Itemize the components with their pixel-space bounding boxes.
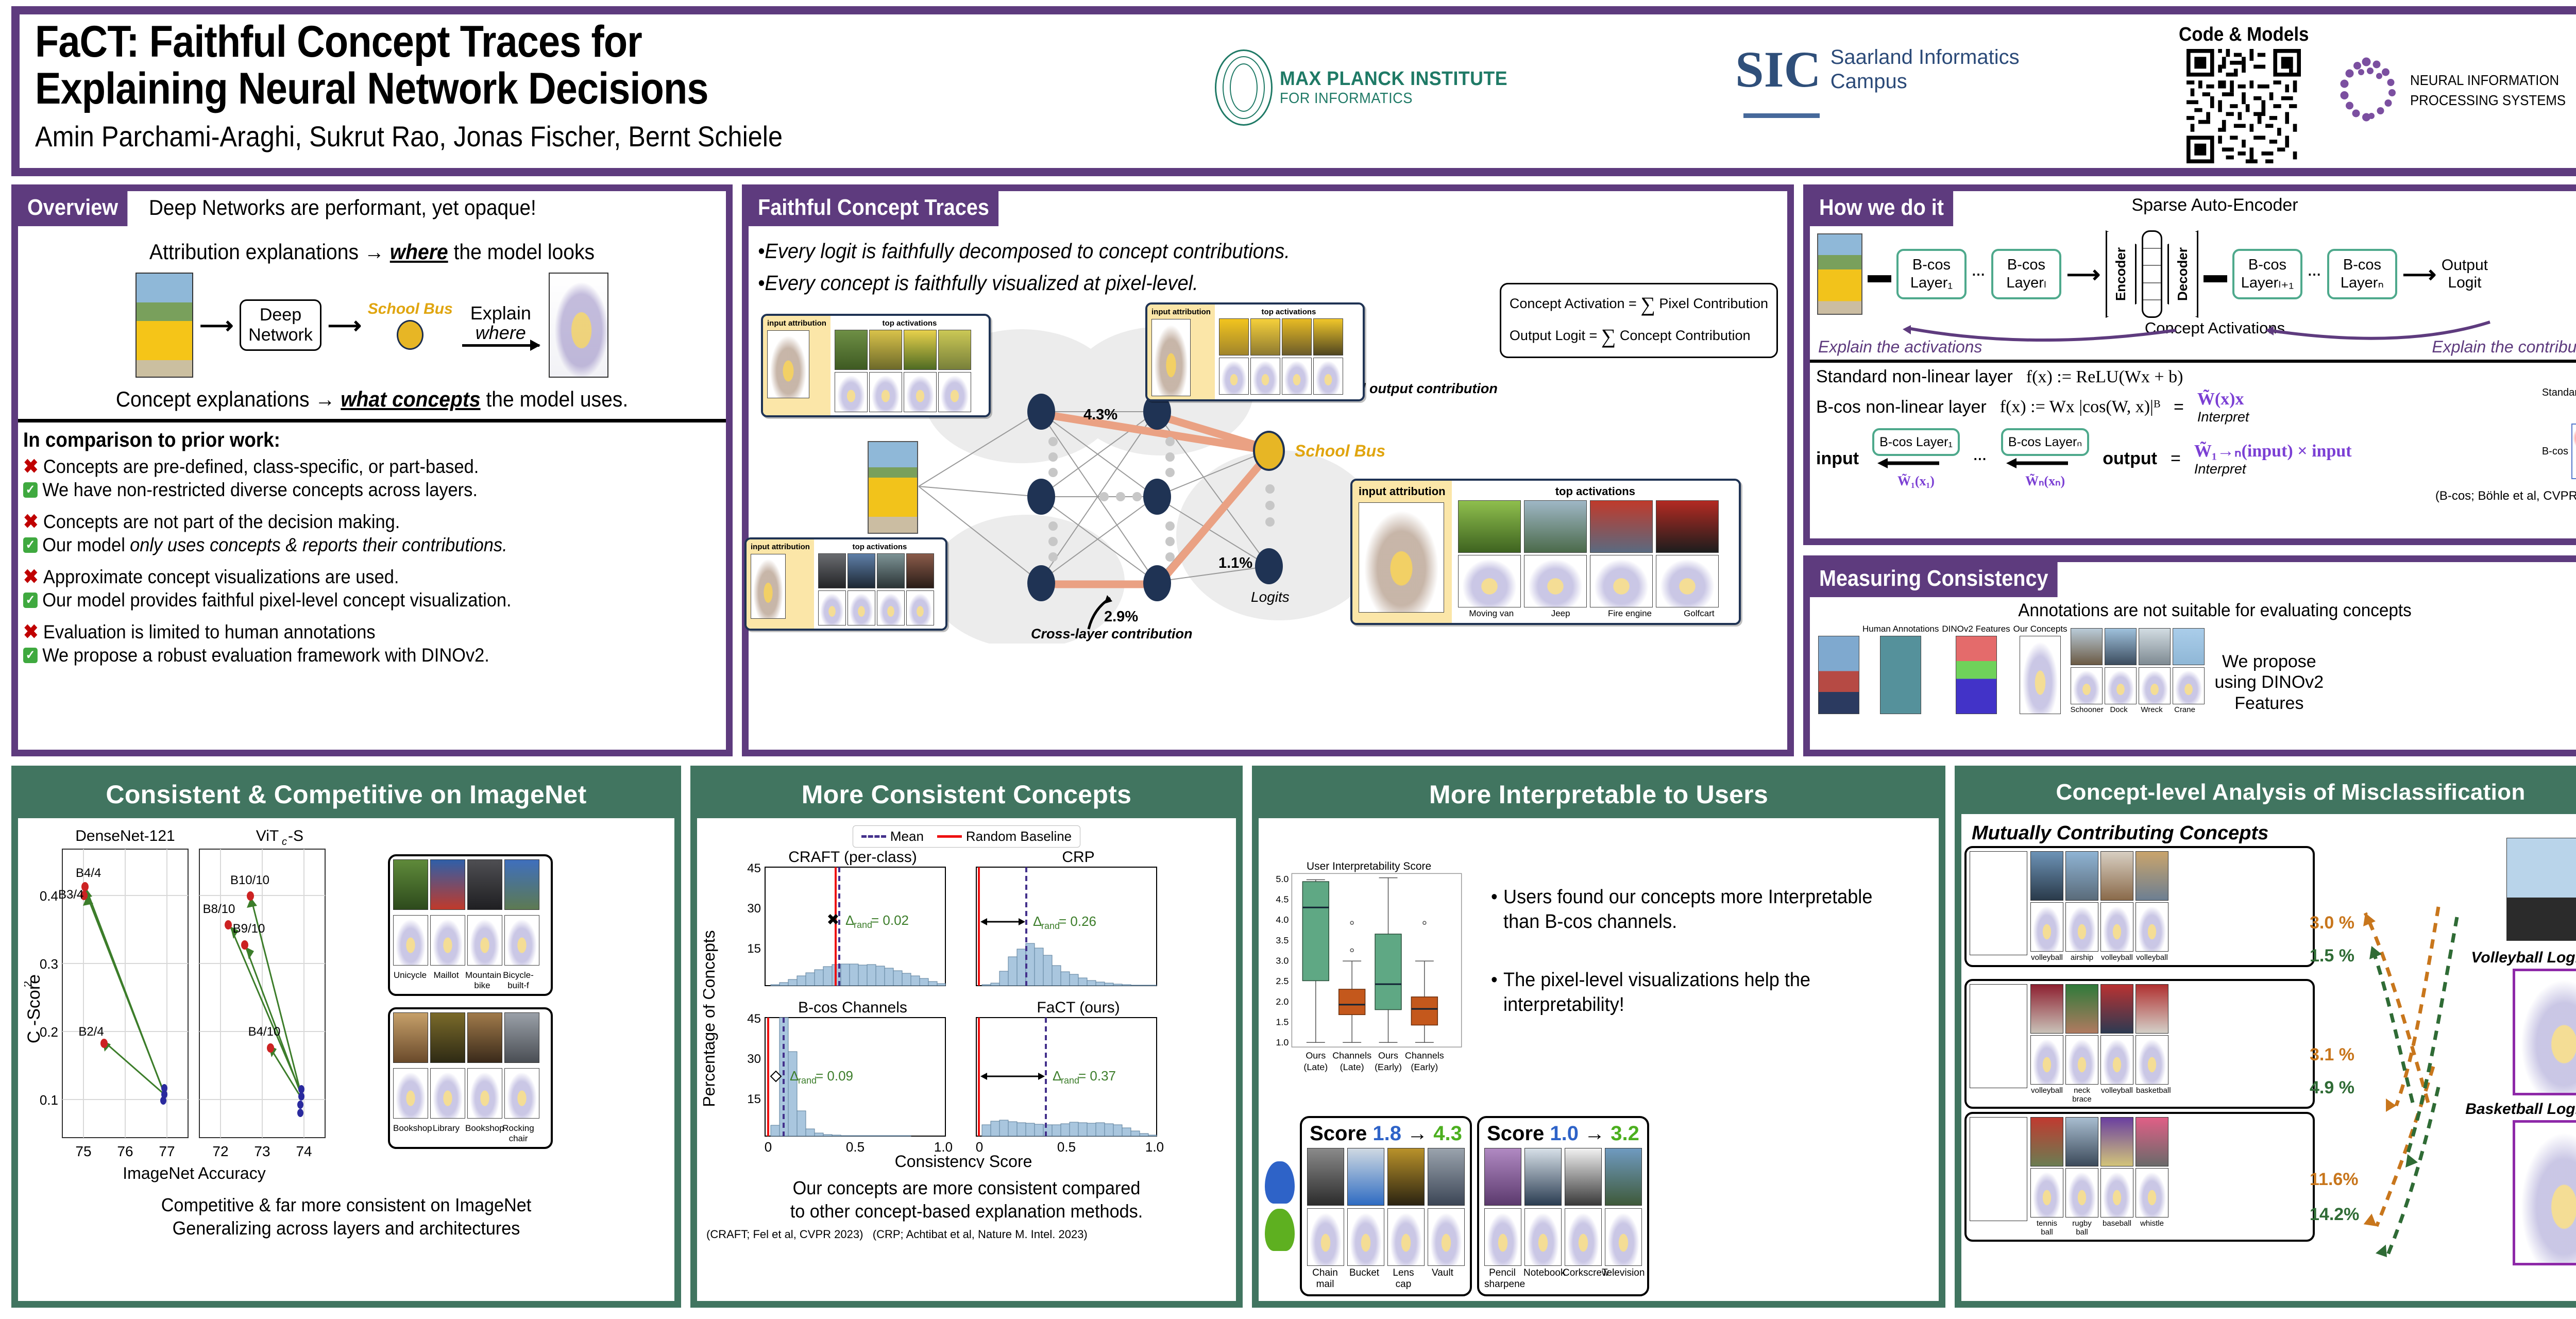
concept-attr-thumb — [1428, 1208, 1465, 1266]
svg-text:Percentage of Concepts: Percentage of Concepts — [703, 930, 718, 1107]
thumb-label: Mountain bike — [465, 970, 499, 991]
overview-tab: Overview — [18, 191, 127, 226]
concept-attr-thumb — [835, 372, 868, 412]
eq-standard-formula: f(x) := ReLU(Wx + b) — [2026, 367, 2183, 387]
score-card-2-label: Pencil sharpene — [1484, 1267, 1520, 1290]
comparison-item: ✖Evaluation is limited to human annotati… — [23, 620, 677, 644]
score-to: 4.3 — [1433, 1122, 1462, 1145]
consistent-caption: Our concepts are more consistent compare… — [717, 1176, 1217, 1223]
how-pipeline: ▬ B-cosLayer₁ ⋯ B-cosLayerₗ ⟶ Encoder De… — [1817, 230, 2576, 318]
mpi-seal-icon — [1215, 49, 1273, 126]
mc-concept-grid: Schooner Dock Wreck Crane — [2071, 628, 2205, 714]
fct-bullet-1: •Every logit is faithfully decomposed to… — [758, 235, 1715, 267]
chain-rhs: W̃₁→ₙ(input) × input — [2194, 442, 2352, 461]
score-card-1: Score 1.8 → 4.3 — [1300, 1116, 1472, 1296]
svg-text:45: 45 — [747, 861, 761, 875]
concept-label: Dock — [2104, 705, 2134, 714]
concept-attr-thumb — [904, 372, 937, 412]
svg-text:1.0: 1.0 — [1145, 1139, 1164, 1155]
eq-chain-row: input B-cos Layer₁ W̃₁(x₁) ⋯ B-cos Layer… — [1816, 428, 2576, 489]
concept-activations-row: Concept Activations — [1810, 319, 2576, 337]
concept-attr-thumb — [1605, 1208, 1642, 1266]
basketball-explanation-image — [2513, 1120, 2576, 1265]
concept-em: what concepts — [341, 387, 480, 411]
svg-text:Δ: Δ — [845, 912, 854, 928]
concept-attr-thumb — [848, 590, 875, 625]
logit-node — [397, 320, 423, 350]
concept-label: Crane — [2170, 705, 2200, 714]
concept-attr-thumb — [1282, 358, 1312, 395]
activation-label: Moving van — [1461, 608, 1522, 619]
svg-text:ImageNet Accuracy: ImageNet Accuracy — [123, 1164, 265, 1182]
interpret-label: Interpret — [2197, 409, 2249, 425]
top-activation-row — [1458, 500, 1733, 553]
concept-attr-thumb — [467, 1068, 502, 1119]
latent-concepts — [2142, 230, 2162, 318]
score-card-1-label: Vault — [1425, 1267, 1461, 1290]
card-title-input-attribution: input attribution — [1359, 485, 1446, 498]
imagenet-body: DenseNet-121 ViT c -S C -Score 2 0.4 0.3… — [18, 818, 674, 1189]
comparison-heading: In comparison to prior work: — [23, 429, 670, 452]
concept-attr-thumb — [1250, 358, 1280, 395]
card-left: input attribution — [1147, 305, 1215, 399]
activation-thumb — [2065, 984, 2098, 1034]
card-title-top-activations: top activations — [1458, 485, 1733, 498]
svg-text:1.0: 1.0 — [1276, 1037, 1289, 1047]
bcos-layer-n: B-cosLayerₙ — [2327, 249, 2397, 299]
concept-attr-thumb — [504, 915, 539, 966]
mc-label-dinov2: DINOv2 Features — [1942, 624, 2010, 634]
user-interpretability-boxplot: User Interpretability Score 5.04.54.0 3.… — [1265, 823, 1481, 1112]
score-from: 1.0 — [1550, 1122, 1579, 1145]
concept-attr-thumb — [2136, 902, 2168, 952]
legend-mean-label: Mean — [890, 828, 924, 844]
eq-bcos-row: B-cos non-linear layer f(x) := Wx |cos(W… — [1816, 389, 2576, 425]
random-baseline-line-icon — [937, 835, 962, 838]
activation-label-row: Moving van Jeep Fire engine Golfcart — [1458, 608, 1733, 619]
arrow-right-icon: ▬ — [1868, 262, 1891, 286]
neurips-line1: NEURAL INFORMATION — [2410, 70, 2566, 90]
activation-thumb — [1605, 1148, 1642, 1206]
concept-post: the model uses. — [481, 387, 629, 411]
concept-label: whistle — [2136, 1219, 2168, 1237]
divider — [18, 419, 726, 422]
arrow-right-icon: ⟶ — [2402, 262, 2436, 286]
consistent-banner: More Consistent Concepts — [697, 772, 1236, 818]
deep-network-l2: Network — [248, 325, 313, 345]
measuring-right-text: We proposeusing DINOv2Features — [2215, 651, 2324, 714]
pct-1-5: 1.5 % — [2310, 946, 2354, 966]
activation-thumb — [1458, 500, 1521, 553]
activation-thumb — [393, 1012, 428, 1063]
activation-thumb — [2030, 984, 2063, 1034]
svg-text:5.0: 5.0 — [1276, 874, 1289, 884]
mpi-logo-line2: FOR INFORMATICS — [1280, 90, 1507, 107]
activation-label: Golfcart — [1668, 608, 1730, 619]
concept-grid-2: volleyball neck brace volleyball basketb… — [2030, 984, 2168, 1104]
activation-thumb — [1428, 1148, 1465, 1206]
svg-text:rand: rand — [854, 920, 872, 930]
concept-attr-thumb — [430, 915, 465, 966]
eq-bcos-formula: f(x) := Wx |cos(W, x)|ᴮ — [2000, 397, 2160, 417]
svg-text:DenseNet-121: DenseNet-121 — [75, 827, 175, 844]
activation-thumb — [2065, 1117, 2098, 1166]
svg-text:B4/4: B4/4 — [76, 866, 101, 880]
svg-text:ViT: ViT — [256, 827, 279, 844]
ellipsis-icon: ⋯ — [1973, 451, 1988, 467]
svg-text:77: 77 — [159, 1143, 175, 1159]
svg-text:4.0: 4.0 — [1276, 915, 1289, 925]
svg-text:B2/4: B2/4 — [78, 1025, 104, 1039]
activation-thumb — [1387, 1148, 1425, 1206]
concept-attr-thumb — [393, 1068, 428, 1119]
concept-attr-thumb — [467, 915, 502, 966]
activation-thumb — [2030, 851, 2063, 901]
top-activation-row — [818, 553, 941, 588]
activation-thumb — [1656, 500, 1719, 553]
bike-concept-card: Unicycle Maillot Mountain bike Bicycle-b… — [388, 854, 553, 996]
diagram-class-label: School Bus — [1295, 442, 1385, 461]
panel-faithful-concept-traces: Faithful Concept Traces •Every logit is … — [742, 184, 1794, 756]
pct-4-9: 4.9 % — [2310, 1078, 2354, 1098]
bcos-layer-1: B-cosLayer₁ — [1896, 249, 1967, 299]
concept-attr-thumb — [1458, 555, 1521, 607]
qr-code-icon[interactable] — [2187, 49, 2301, 163]
pct-3-0: 3.0 % — [2310, 913, 2354, 933]
panel-consistent-competitive: Consistent & Competitive on ImageNet Den… — [11, 766, 681, 1308]
activation-thumb — [2030, 1117, 2063, 1166]
activation-thumb — [430, 1012, 465, 1063]
consistent-caption-line1: Our concepts are more consistent compare… — [717, 1176, 1217, 1199]
user-head-icons — [1265, 1161, 1295, 1251]
arrow-right-icon: ⟶ — [199, 313, 233, 337]
svg-text:= 0.09: = 0.09 — [816, 1068, 853, 1084]
comparison-item: ✓Our model provides faithful pixel-level… — [23, 589, 677, 611]
comparison-text: We have non-restricted diverse concepts … — [42, 479, 478, 501]
overview-tagline: Deep Networks are performant, yet opaque… — [149, 195, 536, 220]
bcos-layer-l1: B-cosLayerₗ₊₁ — [2232, 249, 2302, 299]
svg-text:CRP: CRP — [1062, 849, 1094, 866]
authors: Amin Parchami-Araghi, Sukrut Rao, Jonas … — [35, 120, 1055, 153]
cross-icon: ✖ — [23, 620, 39, 644]
svg-text:1.5: 1.5 — [1276, 1017, 1289, 1027]
output-logit-label: OutputLogit — [2442, 257, 2488, 292]
eq-equals: = — [2174, 397, 2184, 417]
card-right: top activations — [814, 539, 945, 629]
concept-thumb — [2105, 628, 2137, 665]
svg-text:(Late): (Late) — [1340, 1062, 1364, 1072]
page-title-line1: FaCT: Faithful Concept Traces for — [35, 19, 1032, 65]
attribution-thumb — [751, 554, 786, 619]
svg-text:76: 76 — [117, 1143, 133, 1159]
interpretable-banner: More Interpretable to Users — [1259, 772, 1939, 818]
attr-post: the model looks — [448, 240, 595, 264]
activation-thumb — [1524, 1148, 1562, 1206]
fct-network-diagram: 4.3% 3.4% 1.1% 2.9% School Bus Logits Fa… — [749, 314, 1787, 644]
mc-dinov2: DINOv2 Features — [1942, 624, 2010, 714]
cite-craft: (CRAFT; Fel et al, CVPR 2023) — [706, 1228, 863, 1241]
activation-thumb — [467, 1012, 502, 1063]
svg-text:15: 15 — [747, 1092, 761, 1106]
eq-equals-2: = — [2171, 449, 2181, 469]
cross-icon: ✖ — [23, 565, 39, 588]
concept-label: Wreck — [2137, 705, 2167, 714]
class-label-school-bus: School Bus — [368, 300, 453, 318]
score-card-2-label: Corkscrew — [1563, 1267, 1599, 1290]
svg-text:User Interpretability Score: User Interpretability Score — [1307, 860, 1431, 872]
concept-label: airship — [2066, 953, 2098, 962]
consistent-caption-line2: to other concept-based explanation metho… — [717, 1199, 1217, 1223]
concept-label: volleyball — [2101, 1086, 2133, 1104]
activation-thumb — [1590, 500, 1653, 553]
volleyball-logit-label: Volleyball Logit: 3.7 — [2471, 949, 2576, 967]
activation-thumb — [1250, 318, 1280, 356]
arrow-right-icon: ⟶ — [2066, 262, 2100, 286]
concept-card-1: volleyball airship volleyball volleyball — [1964, 846, 2315, 967]
score-to: 3.2 — [1611, 1122, 1639, 1145]
attribution-thumb — [1359, 502, 1444, 613]
activation-thumb — [869, 330, 902, 370]
card-title-top-activations: top activations — [835, 319, 985, 328]
arrow-right-icon: ▬ — [2204, 262, 2227, 286]
concept-label: Schooner — [2071, 705, 2102, 714]
attr-em: where — [390, 240, 448, 264]
comparison-text-pre: Our model — [42, 534, 125, 556]
concept-grid-1: volleyball airship volleyball volleyball — [2030, 851, 2168, 962]
divider — [1810, 360, 2576, 363]
svg-text:3.0: 3.0 — [1276, 956, 1289, 966]
eq-standard-label: Standard non-linear layer — [1816, 367, 2013, 387]
consistent-body: Mean Random Baseline Percentage of Conce… — [697, 818, 1236, 1246]
sic-logo-line1: Saarland Informatics — [1831, 45, 2020, 70]
concept-attr-thumb — [504, 1068, 539, 1119]
svg-text:rand: rand — [798, 1075, 817, 1086]
misclassification-body: Mutually Contributing Concepts — [1961, 814, 2576, 1304]
score-prefix: Score — [1310, 1122, 1367, 1145]
mc-ours: Our Concepts — [2013, 624, 2067, 714]
imagenet-caption-line2: Generalizing across layers and architect… — [35, 1216, 658, 1240]
concept-attribution-large — [1970, 851, 2027, 955]
attribution-thumb-row — [835, 372, 985, 412]
concept-attr-thumb — [2136, 1168, 2168, 1217]
c2-score-scatter-chart: DenseNet-121 ViT c -S C -Score 2 0.4 0.3… — [24, 823, 385, 1184]
eq-bcos-rhs: W̃(x)x — [2197, 390, 2244, 409]
svg-text:B-cos Channels: B-cos Channels — [798, 999, 907, 1016]
sic-logo-line2: Campus — [1831, 70, 2020, 94]
svg-text:Δ: Δ — [1033, 914, 1042, 929]
score-card-1-title: Score 1.8 → 4.3 — [1307, 1122, 1465, 1145]
concept-label-row-3: tennis ball rugby ball baseball whistle — [2030, 1219, 2168, 1237]
activation-thumb — [2100, 1117, 2133, 1166]
concept-label: rugby ball — [2066, 1219, 2098, 1237]
imagenet-caption: Competitive & far more consistent on Ima… — [35, 1193, 658, 1240]
svg-text:4.5: 4.5 — [1276, 894, 1289, 905]
thumb-label: Rocking chair — [501, 1123, 535, 1144]
svg-text:rand: rand — [1061, 1075, 1079, 1086]
volleyball-logit-text: Volleyball Logit: — [2471, 949, 2576, 966]
activation-label: Fire engine — [1599, 608, 1660, 619]
card-title-input-attribution: input attribution — [767, 319, 826, 328]
cite-crp: (CRP; Achtibat et al, Nature M. Intel. 2… — [873, 1228, 1088, 1241]
deep-network-box: Deep Network — [240, 299, 321, 351]
svg-text:(Late): (Late) — [1303, 1062, 1328, 1072]
poster-root: FaCT: Faithful Concept Traces for Explai… — [0, 0, 2576, 1319]
attribution-thumb-row — [818, 590, 941, 625]
svg-text:30: 30 — [747, 902, 761, 916]
neurips-line2: PROCESSING SYSTEMS — [2410, 90, 2566, 110]
card-right: top activations — [1215, 305, 1363, 399]
input-image — [1817, 233, 1862, 315]
pct-4-3: 4.3% — [1083, 407, 1117, 424]
attribution-thumb-row — [1458, 555, 1733, 607]
thumb-label: Bicycle-built-f — [501, 970, 535, 991]
interpret-label-2: Interpret — [2194, 461, 2352, 477]
check-icon: ✓ — [23, 482, 38, 498]
activation-thumb — [938, 330, 971, 370]
svg-text:2: 2 — [24, 981, 34, 987]
activation-thumb — [906, 553, 934, 588]
ellipsis-icon: ⋯ — [2308, 266, 2322, 282]
concept-pre: Concept explanations → — [116, 387, 341, 411]
basketball-logit-text: Basketball Logit: — [2465, 1101, 2576, 1118]
concept-attr-thumb — [2100, 1168, 2133, 1217]
concept-label-row-2: volleyball neck brace volleyball basketb… — [2030, 1086, 2168, 1104]
activation-thumb — [1484, 1148, 1521, 1206]
deep-network-l1: Deep — [248, 305, 313, 325]
activation-thumb — [504, 1012, 539, 1063]
comparison-item: ✓Our model only uses concepts & reports … — [23, 534, 677, 556]
original-input-image — [2506, 838, 2576, 941]
concept-attr-thumb — [2100, 902, 2133, 952]
thumb-label: Bookshop — [465, 1123, 499, 1144]
concept-attr-thumb — [2139, 667, 2171, 704]
score-from: 1.8 — [1372, 1122, 1401, 1145]
svg-text:CRAFT (per-class): CRAFT (per-class) — [788, 849, 917, 866]
svg-text:45: 45 — [747, 1012, 761, 1026]
svg-text:73: 73 — [254, 1143, 270, 1159]
concept-thumb — [2071, 628, 2103, 665]
concept-label-row-1: volleyball airship volleyball volleyball — [2030, 953, 2168, 962]
pct-11-6: 11.6% — [2310, 1170, 2359, 1190]
our-concept-image — [2020, 636, 2061, 714]
concept-attr-thumb — [938, 372, 971, 412]
score-card-2-title: Score 1.0 → 3.2 — [1484, 1122, 1642, 1145]
svg-text:0.5: 0.5 — [846, 1139, 865, 1155]
concept-attr-thumb — [1590, 555, 1653, 607]
sic-wordmark: SIC — [1735, 46, 1821, 93]
svg-text:0.5: 0.5 — [1057, 1139, 1076, 1155]
concept-attr-thumb — [1219, 358, 1249, 395]
measuring-tab: Measuring Consistency — [1810, 562, 2058, 597]
explain-bottom: where — [476, 322, 526, 343]
measuring-strip: x Human Annotations DINOv2 Features Our … — [1818, 624, 2576, 714]
panel-how-we-do-it: How we do it Sparse Auto-Encoder ▬ B-cos… — [1803, 184, 2576, 545]
panel-misclassification: Concept-level Analysis of Misclassificat… — [1955, 766, 2576, 1308]
mini-standard-label: Standard — [2542, 387, 2576, 399]
panel-measuring-consistency: Measuring Consistency Annotations are no… — [1803, 555, 2576, 756]
card-title-input-attribution: input attribution — [1151, 308, 1211, 316]
svg-text:2.5: 2.5 — [1276, 976, 1289, 986]
eq-standard-row: Standard non-linear layer f(x) := ReLU(W… — [1816, 367, 2576, 387]
svg-text:Δ: Δ — [790, 1068, 799, 1084]
concept-attr-thumb — [1656, 555, 1719, 607]
sae-title: Sparse Auto-Encoder — [1810, 195, 2576, 215]
interp-bullet-2: • The pixel-level visualizations help th… — [1491, 968, 1910, 1017]
score-card-1-label: Chain mail — [1307, 1267, 1343, 1290]
comparison-text: We propose a robust evaluation framework… — [42, 645, 489, 666]
svg-text:B3/4: B3/4 — [58, 888, 83, 902]
sic-underline — [1743, 113, 1820, 118]
arrow-icon: → — [1584, 1122, 1605, 1145]
thumb-label: Maillot — [429, 970, 463, 991]
cross-icon: ✖ — [23, 510, 39, 533]
concept-attr-thumb — [1565, 1208, 1602, 1266]
overview-attribution-line: Attribution explanations → where the mod… — [43, 240, 701, 264]
svg-text:Channels: Channels — [1405, 1051, 1444, 1061]
concept-attr-thumb — [1387, 1208, 1425, 1266]
activation-thumb — [393, 859, 428, 910]
concept-label: baseball — [2101, 1219, 2133, 1237]
activation-thumb — [1307, 1148, 1344, 1206]
concept-attr-thumb — [2105, 667, 2137, 704]
explain-activations-label: Explain the activations — [1818, 337, 1982, 357]
backward-wn-label: W̃ₙ(xₙ) — [2001, 474, 2089, 489]
imagenet-caption-line1: Competitive & far more consistent on Ima… — [35, 1193, 658, 1216]
decoder-block: Decoder — [2167, 230, 2198, 318]
score-card-2-label: Television — [1602, 1267, 1638, 1290]
concept-attr-thumb — [2173, 667, 2205, 704]
explain-labels-row: Explain the activations Explain the cont… — [1810, 337, 2576, 357]
mini-bcos-label: B-cos — [2542, 446, 2568, 458]
concept-card-2: volleyball neck brace volleyball basketb… — [1964, 979, 2315, 1109]
consistent-citations: (CRAFT; Fel et al, CVPR 2023) (CRP; Acht… — [706, 1228, 1230, 1241]
interp-bullet-1-text: Users found our concepts more Interpreta… — [1503, 885, 1910, 934]
svg-text:Channels: Channels — [1332, 1051, 1371, 1061]
bullet-dot: • — [1491, 968, 1498, 1017]
concept-label: volleyball — [2136, 953, 2168, 962]
volleyball-explanation-image — [2513, 969, 2576, 1095]
activation-thumb — [2100, 851, 2133, 901]
mean-line-icon — [861, 835, 886, 838]
card-left: input attribution — [763, 316, 831, 415]
mc-human: Human Annotations — [1862, 624, 1939, 714]
concept-grid-3: tennis ball rugby ball baseball whistle — [2030, 1117, 2168, 1237]
chain-bcos-n: B-cos Layerₙ — [2001, 428, 2089, 456]
svg-text:-S: -S — [288, 827, 303, 844]
comparison-text-em: only uses concepts & reports their contr… — [130, 534, 507, 556]
comparison-text: Our model provides faithful pixel-level … — [42, 589, 511, 611]
check-icon: ✓ — [23, 537, 38, 553]
concept-card-bottom-left: input attribution top activations — [744, 537, 947, 631]
concept-card-top-left: input attribution top activations — [761, 314, 991, 417]
card-title-input-attribution: input attribution — [751, 543, 810, 551]
pct-2-9: 2.9% — [1104, 608, 1138, 625]
comparison-text: Concepts are not part of the decision ma… — [43, 511, 400, 533]
concept-label: basketball — [2136, 1086, 2168, 1104]
activation-thumb — [430, 859, 465, 910]
svg-text:0.1: 0.1 — [40, 1092, 58, 1108]
bcos-reference: (B-cos; Böhle et al, CVPR 2022) — [1810, 489, 2576, 503]
page-title-line2: Explaining Neural Network Decisions — [35, 65, 1032, 112]
concept-attr-thumb — [877, 590, 905, 625]
check-icon: ✓ — [23, 593, 38, 608]
activation-thumb — [504, 859, 539, 910]
svg-text:Δ: Δ — [1053, 1068, 1061, 1084]
cross-layer-note: Cross-layer contribution — [1031, 626, 1193, 642]
eq-bcos-label: B-cos non-linear layer — [1816, 397, 1987, 417]
svg-text:Consistency Score: Consistency Score — [895, 1152, 1032, 1168]
mc-label-ours: Our Concepts — [2013, 624, 2067, 634]
